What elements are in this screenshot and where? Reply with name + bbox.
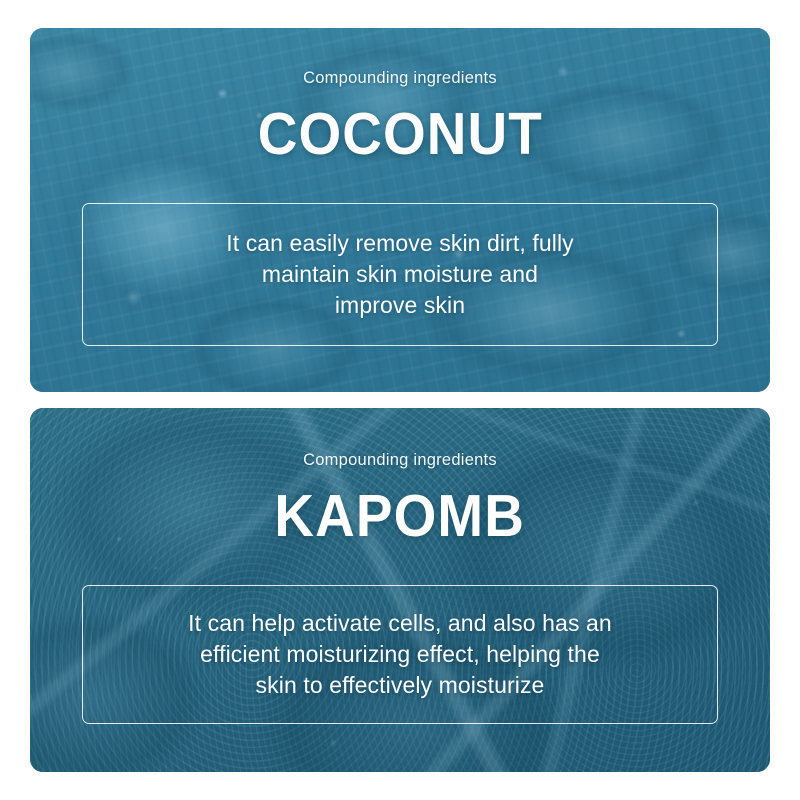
- coconut-description-text: It can easily remove skin dirt, fully ma…: [226, 228, 574, 322]
- kapomb-card-content: Compounding ingredients KAPOMB It can he…: [30, 408, 770, 772]
- coconut-description-box: It can easily remove skin dirt, fully ma…: [82, 203, 718, 346]
- kapomb-description-box: It can help activate cells, and also has…: [82, 585, 718, 724]
- kapomb-eyebrow-label: Compounding ingredients: [303, 452, 497, 469]
- ingredient-cards-page: Compounding ingredients COCONUT It can e…: [0, 0, 800, 800]
- kapomb-description-text: It can help activate cells, and also has…: [188, 608, 612, 702]
- coconut-eyebrow-label: Compounding ingredients: [303, 70, 497, 87]
- coconut-title: COCONUT: [257, 104, 542, 164]
- ingredient-card-coconut: Compounding ingredients COCONUT It can e…: [30, 28, 770, 392]
- kapomb-title: KAPOMB: [275, 486, 526, 546]
- coconut-card-content: Compounding ingredients COCONUT It can e…: [30, 28, 770, 392]
- ingredient-card-kapomb: Compounding ingredients KAPOMB It can he…: [30, 408, 770, 772]
